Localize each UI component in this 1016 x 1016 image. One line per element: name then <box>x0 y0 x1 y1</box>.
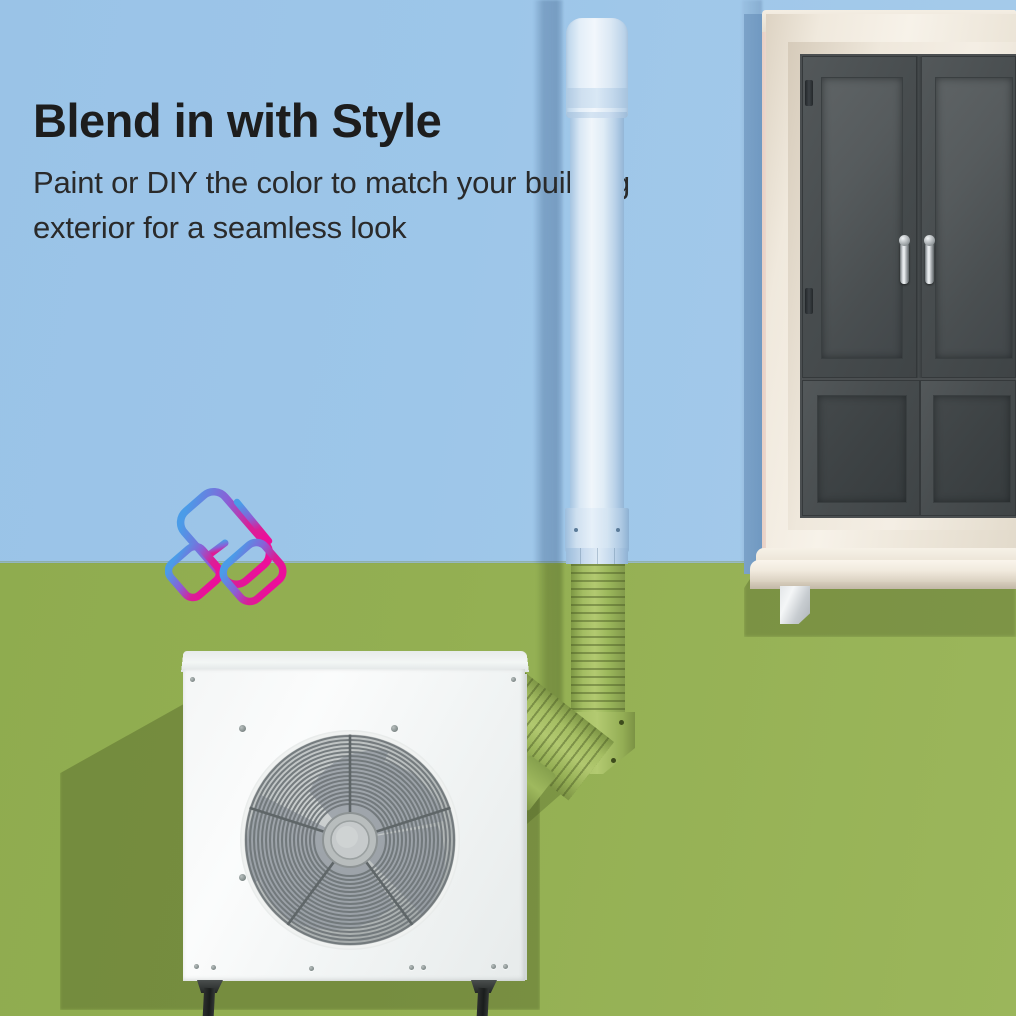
window-mullion-vertical <box>916 56 922 378</box>
window-handle-left-knob[interactable] <box>899 235 910 246</box>
exterior-window <box>744 0 1016 600</box>
conduit-cap-band <box>566 88 628 108</box>
copy-block: Blend in with Style Paint or DIY the col… <box>33 96 733 251</box>
window-pane-lower-left <box>817 395 907 503</box>
conduit-lower-green <box>571 564 625 718</box>
unit-screw <box>503 964 508 969</box>
unit-screw <box>239 725 246 732</box>
unit-front-panel <box>183 669 525 981</box>
conduit-joint-lip <box>566 548 628 564</box>
paint-roller-icon <box>165 465 315 615</box>
window-handle-left[interactable] <box>900 242 909 284</box>
scene-canvas: Blend in with Style Paint or DIY the col… <box>0 0 1016 1016</box>
unit-screw <box>309 966 314 971</box>
conduit-joint-box <box>565 508 629 552</box>
conduit-shadow-upper <box>533 0 563 563</box>
window-sash-lower-left[interactable] <box>802 380 920 516</box>
unit-screw <box>194 964 199 969</box>
fan-grille-icon <box>239 729 461 951</box>
window-pane-lower-right <box>933 395 1011 503</box>
conduit-upper-blue <box>570 118 624 516</box>
window-handle-right-knob[interactable] <box>924 235 935 246</box>
window-pane-upper-left <box>821 77 903 359</box>
page-subtitle: Paint or DIY the color to match your bui… <box>33 161 733 251</box>
window-sash-area <box>800 54 1016 518</box>
outdoor-heat-pump-unit <box>181 650 529 983</box>
page-title: Blend in with Style <box>33 96 733 147</box>
window-hinge-top <box>805 80 813 106</box>
unit-leg <box>202 988 215 1016</box>
unit-screw <box>409 965 414 970</box>
unit-screw <box>391 725 398 732</box>
unit-leg <box>476 988 489 1016</box>
window-hinge-bottom <box>805 288 813 314</box>
window-sash-lower-right[interactable] <box>920 380 1016 516</box>
window-handle-right[interactable] <box>925 242 934 284</box>
window-pane-upper-right <box>935 77 1013 359</box>
window-sash-upper-right[interactable] <box>920 56 1016 378</box>
window-sash-upper-left[interactable] <box>802 56 920 378</box>
unit-screw <box>421 965 426 970</box>
unit-screw <box>511 677 516 682</box>
unit-screw <box>190 677 195 682</box>
unit-screw <box>491 964 496 969</box>
unit-screw <box>211 965 216 970</box>
